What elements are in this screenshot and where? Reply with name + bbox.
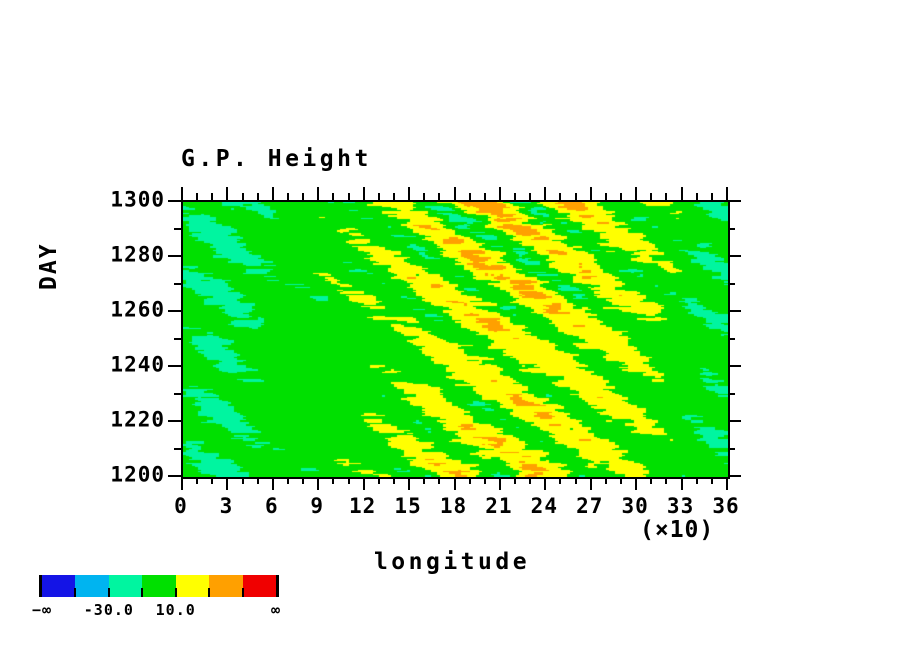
- y-axis-title: DAY: [38, 242, 61, 290]
- colorbar-tick-6: [242, 588, 244, 597]
- x-minor-tick-bottom: [650, 477, 652, 484]
- y-minor-tick-left: [174, 338, 181, 340]
- colorbar-band-1: [75, 575, 108, 597]
- x-minor-tick-top: [650, 193, 652, 200]
- x-major-tick-bottom: [726, 477, 728, 490]
- colorbar-band-5: [209, 575, 242, 597]
- x-minor-tick-top: [529, 193, 531, 200]
- y-major-tick-right: [728, 255, 741, 257]
- x-tick-label: 36: [712, 496, 739, 517]
- x-tick-label: 33: [667, 496, 694, 517]
- x-tick-label: 15: [394, 496, 421, 517]
- x-minor-tick-bottom: [242, 477, 244, 484]
- x-tick-label: 12: [349, 496, 376, 517]
- x-major-tick-bottom: [408, 477, 410, 490]
- x-major-tick-bottom: [181, 477, 183, 490]
- colorbar-right-cap: [276, 575, 279, 597]
- colorbar-label-1: -30.0: [84, 603, 134, 618]
- colorbar-tick-3: [141, 588, 143, 597]
- x-major-tick-bottom: [363, 477, 365, 490]
- x-minor-tick-bottom: [423, 477, 425, 484]
- x-minor-tick-top: [605, 193, 607, 200]
- y-major-tick-right: [728, 365, 741, 367]
- x-major-tick-top: [454, 187, 456, 200]
- x-minor-tick-top: [332, 193, 334, 200]
- colorbar-band-4: [176, 575, 209, 597]
- x-minor-tick-bottom: [196, 477, 198, 484]
- colorbar-label-0: −∞: [32, 603, 52, 618]
- y-major-tick-left: [168, 310, 181, 312]
- x-major-tick-top: [272, 187, 274, 200]
- colorbar-left-cap: [39, 575, 42, 597]
- y-tick-label: 1220: [61, 410, 165, 431]
- colorbar-band-6: [243, 575, 276, 597]
- y-minor-tick-left: [174, 448, 181, 450]
- colorbar-label-2: 10.0: [156, 603, 196, 618]
- colorbar-tick-1: [74, 588, 76, 597]
- x-minor-tick-bottom: [484, 477, 486, 484]
- x-major-tick-top: [544, 187, 546, 200]
- x-minor-tick-top: [287, 193, 289, 200]
- x-tick-label: 24: [531, 496, 558, 517]
- y-tick-label: 1280: [61, 245, 165, 266]
- x-minor-tick-top: [348, 193, 350, 200]
- x-minor-tick-bottom: [575, 477, 577, 484]
- x-minor-tick-top: [696, 193, 698, 200]
- x-major-tick-top: [181, 187, 183, 200]
- x-major-tick-top: [681, 187, 683, 200]
- y-minor-tick-left: [174, 393, 181, 395]
- x-major-tick-top: [499, 187, 501, 200]
- x-minor-tick-top: [211, 193, 213, 200]
- y-tick-label: 1240: [61, 355, 165, 376]
- x-major-tick-top: [317, 187, 319, 200]
- x-minor-tick-bottom: [711, 477, 713, 484]
- x-minor-tick-bottom: [559, 477, 561, 484]
- x-major-tick-top: [363, 187, 365, 200]
- x-major-tick-bottom: [544, 477, 546, 490]
- y-major-tick-right: [728, 310, 741, 312]
- colorbar-band-3: [142, 575, 175, 597]
- x-minor-tick-bottom: [378, 477, 380, 484]
- y-tick-label: 1200: [61, 465, 165, 486]
- x-tick-label: 21: [485, 496, 512, 517]
- x-minor-tick-top: [711, 193, 713, 200]
- x-minor-tick-bottom: [665, 477, 667, 484]
- y-minor-tick-right: [728, 393, 735, 395]
- x-minor-tick-top: [423, 193, 425, 200]
- x-tick-label: 3: [220, 496, 234, 517]
- x-minor-tick-bottom: [211, 477, 213, 484]
- colorbar-tick-5: [208, 588, 210, 597]
- x-major-tick-bottom: [272, 477, 274, 490]
- x-minor-tick-bottom: [438, 477, 440, 484]
- colorbar-band-0: [42, 575, 75, 597]
- x-minor-tick-top: [242, 193, 244, 200]
- y-minor-tick-left: [174, 228, 181, 230]
- x-minor-tick-top: [302, 193, 304, 200]
- y-major-tick-right: [728, 420, 741, 422]
- x-tick-label: 6: [265, 496, 279, 517]
- x-minor-tick-bottom: [514, 477, 516, 484]
- x-major-tick-bottom: [590, 477, 592, 490]
- x-major-tick-bottom: [499, 477, 501, 490]
- x-major-tick-top: [590, 187, 592, 200]
- x-minor-tick-top: [469, 193, 471, 200]
- y-minor-tick-right: [728, 448, 735, 450]
- x-minor-tick-bottom: [257, 477, 259, 484]
- x-major-tick-bottom: [226, 477, 228, 490]
- x-tick-label: 27: [576, 496, 603, 517]
- x-minor-tick-top: [438, 193, 440, 200]
- x-minor-tick-top: [665, 193, 667, 200]
- x-minor-tick-top: [620, 193, 622, 200]
- y-major-tick-right: [728, 200, 741, 202]
- y-major-tick-left: [168, 365, 181, 367]
- x-major-tick-top: [226, 187, 228, 200]
- colorbar-label-3: ∞: [271, 603, 281, 618]
- x-minor-tick-top: [378, 193, 380, 200]
- x-major-tick-bottom: [635, 477, 637, 490]
- x-minor-tick-bottom: [605, 477, 607, 484]
- colorbar-band-2: [109, 575, 142, 597]
- x-minor-tick-top: [514, 193, 516, 200]
- x-minor-tick-bottom: [469, 477, 471, 484]
- y-minor-tick-right: [728, 283, 735, 285]
- colorbar-tick-2: [108, 588, 110, 597]
- x-minor-tick-top: [393, 193, 395, 200]
- x-minor-tick-top: [196, 193, 198, 200]
- x-minor-tick-bottom: [287, 477, 289, 484]
- x-minor-tick-bottom: [393, 477, 395, 484]
- colorbar-tick-4: [175, 588, 177, 597]
- x-major-tick-bottom: [454, 477, 456, 490]
- x-major-tick-top: [408, 187, 410, 200]
- x-minor-tick-bottom: [620, 477, 622, 484]
- x-minor-tick-bottom: [332, 477, 334, 484]
- y-major-tick-left: [168, 420, 181, 422]
- x-major-tick-bottom: [681, 477, 683, 490]
- y-minor-tick-right: [728, 228, 735, 230]
- x-axis-title: longitude: [0, 551, 904, 574]
- x-minor-tick-top: [575, 193, 577, 200]
- x-minor-tick-bottom: [529, 477, 531, 484]
- page-title: G.P. Height: [181, 148, 372, 171]
- x-major-tick-top: [726, 187, 728, 200]
- x-minor-tick-bottom: [302, 477, 304, 484]
- x-minor-tick-bottom: [696, 477, 698, 484]
- y-tick-label: 1260: [61, 300, 165, 321]
- x-major-tick-bottom: [317, 477, 319, 490]
- y-minor-tick-left: [174, 283, 181, 285]
- x-tick-label: 0: [174, 496, 188, 517]
- x-tick-label: 30: [622, 496, 649, 517]
- y-tick-label: 1300: [61, 190, 165, 211]
- x-minor-tick-top: [484, 193, 486, 200]
- x-axis-multiplier-label: (×10): [640, 519, 714, 542]
- x-tick-label: 18: [440, 496, 467, 517]
- y-major-tick-right: [728, 475, 741, 477]
- y-major-tick-left: [168, 200, 181, 202]
- plot-area: [181, 200, 730, 479]
- x-tick-label: 9: [310, 496, 324, 517]
- y-major-tick-left: [168, 475, 181, 477]
- x-major-tick-top: [635, 187, 637, 200]
- x-minor-tick-bottom: [348, 477, 350, 484]
- y-minor-tick-right: [728, 338, 735, 340]
- y-major-tick-left: [168, 255, 181, 257]
- heatmap-image: [183, 202, 728, 477]
- x-minor-tick-top: [559, 193, 561, 200]
- x-minor-tick-top: [257, 193, 259, 200]
